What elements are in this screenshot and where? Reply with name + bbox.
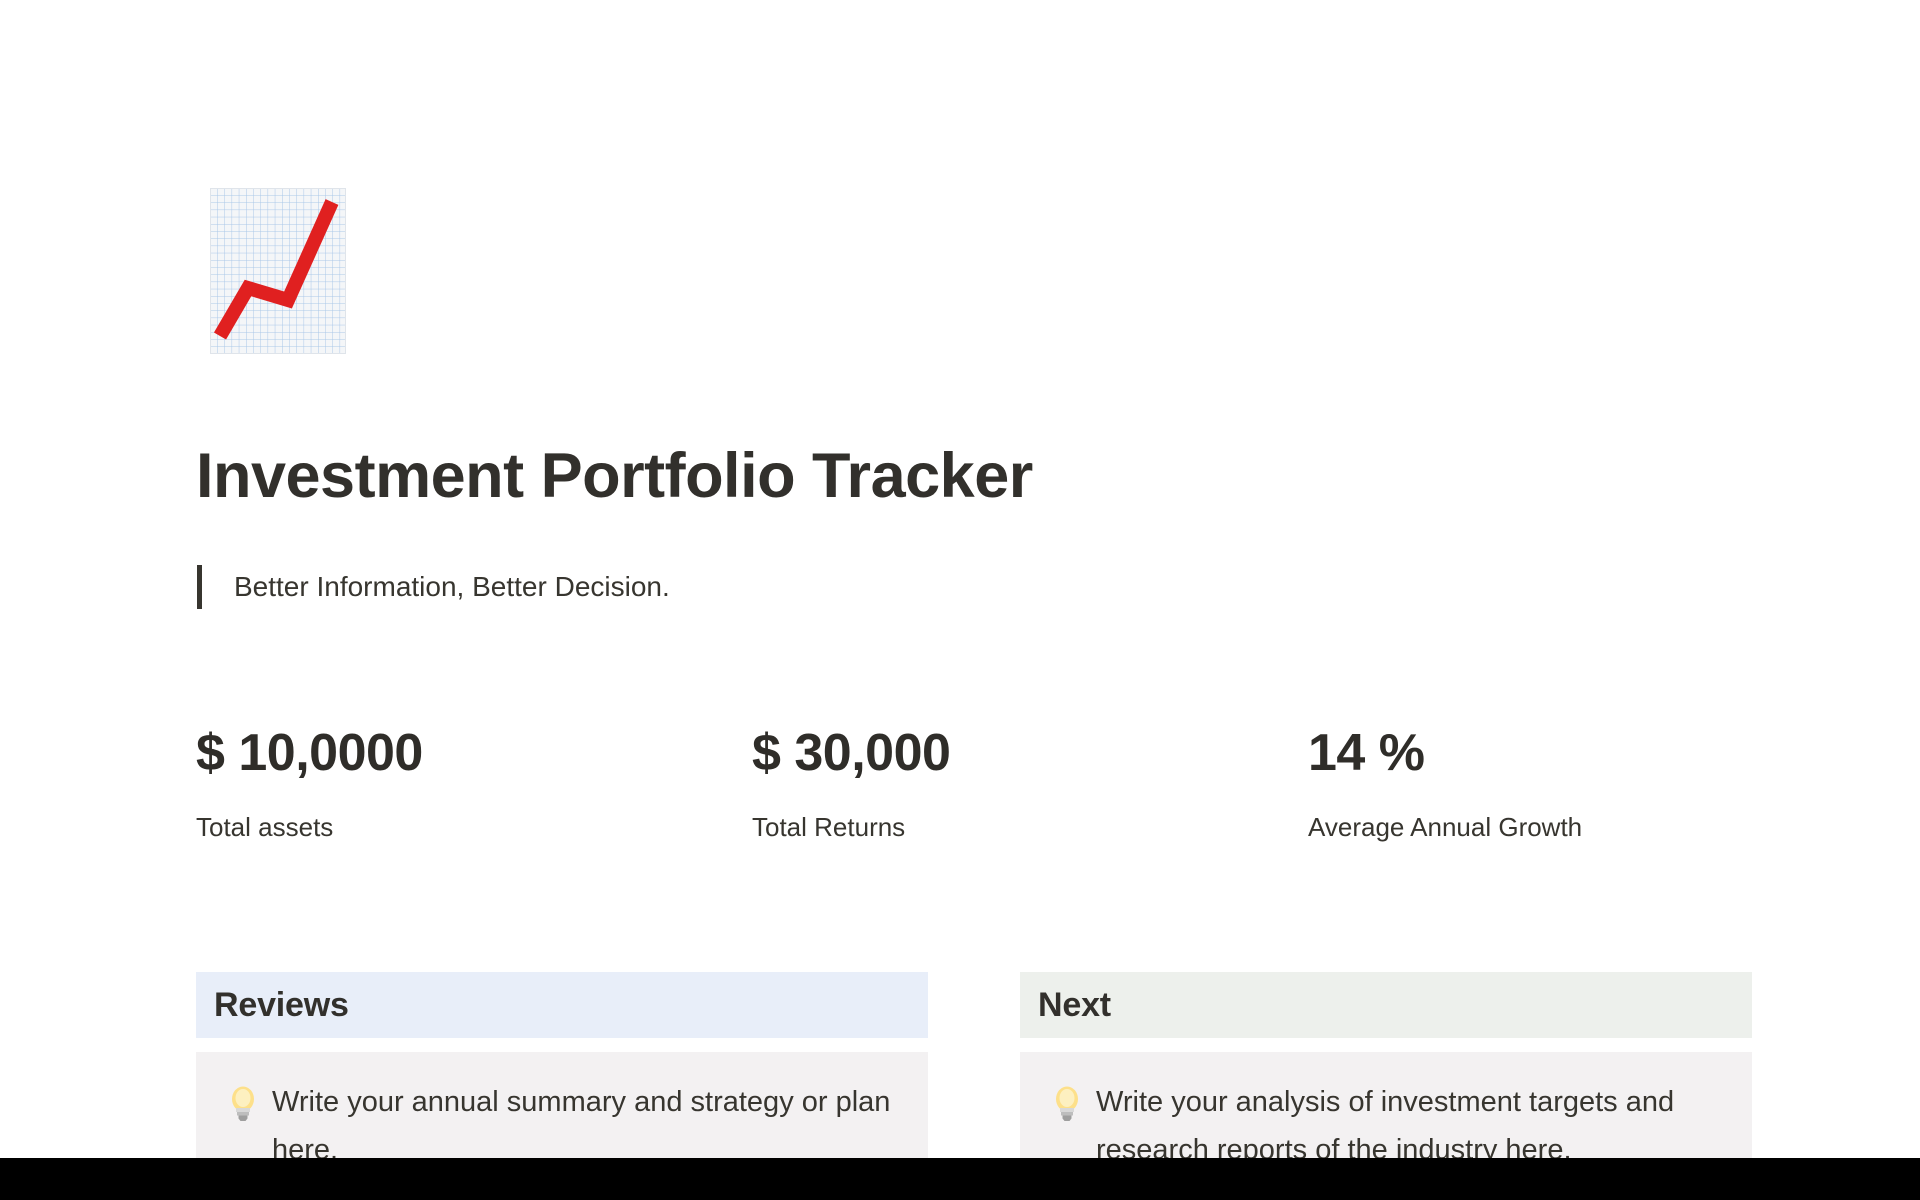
stat-average-annual-growth: 14 % Average Annual Growth [1308,722,1864,844]
stat-label: Average Annual Growth [1308,810,1864,844]
stat-total-assets: $ 10,0000 Total assets [196,722,752,844]
stat-total-returns: $ 30,000 Total Returns [752,722,1308,844]
stat-label: Total Returns [752,810,1308,844]
bottom-black-bar [0,1158,1920,1200]
subtitle-quote-block[interactable]: Better Information, Better Decision. [197,565,670,609]
card-title: Next [1038,986,1111,1025]
stats-row: $ 10,0000 Total assets $ 30,000 Total Re… [196,722,1756,844]
chart-increasing-icon[interactable] [210,188,350,358]
page-title[interactable]: Investment Portfolio Tracker [196,437,1033,515]
document-page: Investment Portfolio Tracker Better Info… [0,0,1920,1200]
card-header-next[interactable]: Next [1020,972,1752,1038]
card-header-reviews[interactable]: Reviews [196,972,928,1038]
stat-value: 14 % [1308,722,1864,784]
light-bulb-icon [220,1078,266,1124]
stat-value: $ 30,000 [752,722,1308,784]
stat-label: Total assets [196,810,752,844]
stat-value: $ 10,0000 [196,722,752,784]
card-title: Reviews [214,986,349,1025]
light-bulb-icon [1044,1078,1090,1124]
subtitle-text: Better Information, Better Decision. [202,565,670,609]
